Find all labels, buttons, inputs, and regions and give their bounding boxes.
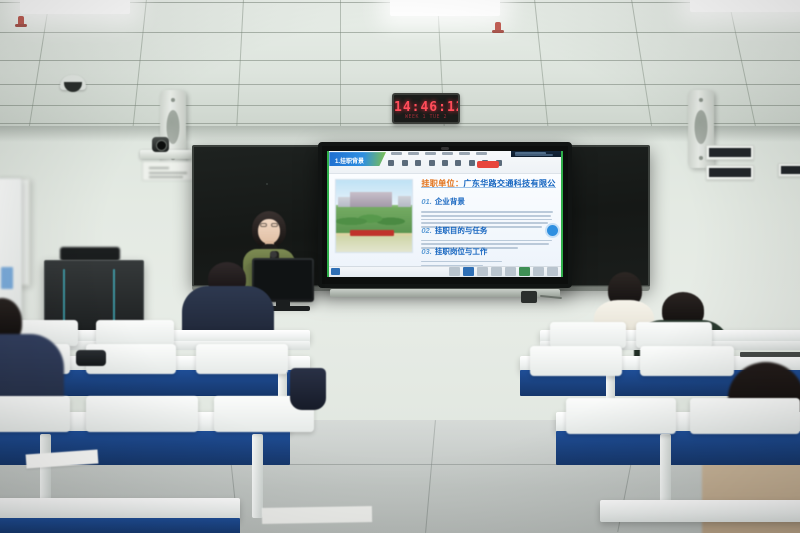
ribbon-icon-paste[interactable]: [388, 160, 394, 166]
taskbar-icon-8[interactable]: [547, 267, 558, 276]
taskbar-icon-6[interactable]: [519, 267, 530, 276]
ppt-ribbon[interactable]: 1.挂职背景: [327, 151, 563, 174]
wall-ceiling-shadow: [0, 126, 800, 142]
screen-webcam-icon: [441, 147, 449, 150]
ceiling-light-3: [690, 0, 800, 12]
section-3-heading: 挂职岗位与工作: [435, 246, 488, 257]
screen-media-box: [521, 291, 537, 303]
clock-sublabel: WEEK 1 TUE 2: [394, 114, 458, 120]
slide-section-tag-label: 1.挂职背景: [335, 156, 364, 165]
ribbon-icon-image[interactable]: [442, 160, 448, 166]
chair-row1-a: [0, 396, 70, 432]
chair-row2-c: [196, 344, 288, 374]
slide-edge-accent-left: [327, 151, 329, 277]
chair-row1-d: [566, 398, 676, 434]
wall-led-clock: 14:46:12 WEEK 1 TUE 2: [392, 93, 460, 124]
presenter-glasses-left: [260, 223, 267, 227]
slide-title: 挂职单位： 广东华路交通科技有限公司: [421, 178, 556, 188]
wall-panel-b: [706, 165, 754, 180]
video-conference-camera: [152, 137, 169, 152]
ppt-presenter-panel[interactable]: [511, 151, 563, 157]
screen-surface[interactable]: 1.挂职背景 挂职单位：: [327, 151, 563, 277]
desk-shadow-gap-right: [740, 352, 800, 357]
chair-row2-d: [530, 346, 622, 376]
section-3-number: 03.: [421, 247, 431, 256]
slide-edge-accent-right: [561, 151, 563, 277]
chair-row3-d: [636, 322, 712, 348]
slide-section-tag: 1.挂职背景: [329, 152, 386, 166]
slide-help-bubble-icon[interactable]: [547, 225, 558, 236]
ribbon-icon-font[interactable]: [402, 160, 408, 166]
led-presentation-screen[interactable]: 1.挂职背景 挂职单位：: [318, 142, 572, 288]
slide-title-company: 广东华路交通科技有限公司: [463, 178, 556, 188]
presenter-glasses-right: [271, 223, 278, 227]
ribbon-icon-shapes[interactable]: [429, 160, 435, 166]
ribbon-icon-newslide[interactable]: [415, 160, 421, 166]
company-campus-photo: [335, 179, 413, 253]
taskbar-icon-4[interactable]: [491, 267, 502, 276]
bag-on-desk: [76, 350, 106, 366]
slide-title-prefix: 挂职单位：: [421, 178, 463, 188]
ceiling-dome-camera: [60, 75, 86, 90]
section-2-heading: 挂职目的与任务: [435, 225, 488, 236]
ribbon-tab-row[interactable]: [391, 152, 487, 155]
ac-badge: [1, 267, 13, 289]
chair-row1-b: [86, 396, 198, 432]
rack-led-right: [113, 269, 115, 327]
taskbar-icon-5[interactable]: [505, 267, 516, 276]
taskbar-app-icons[interactable]: [449, 268, 558, 275]
taskbar-icon-active[interactable]: [463, 267, 474, 276]
rack-top-items: [60, 247, 120, 261]
sprinkler-left: [18, 16, 24, 26]
bag-on-chair: [290, 368, 326, 410]
classroom-photo-scene: 14:46:12 WEEK 1 TUE 2: [0, 0, 800, 533]
wall-panel-c: [778, 163, 800, 177]
section-2-number: 02.: [421, 226, 431, 235]
ceiling-light-1: [20, 0, 130, 14]
wall-info-plaque: [142, 161, 194, 181]
chair-row1-e: [690, 398, 800, 434]
presentation-slide[interactable]: 1.挂职背景 挂职单位：: [327, 151, 563, 277]
papers-on-desk-2: [262, 506, 372, 524]
ribbon-icon-table[interactable]: [455, 160, 461, 166]
taskbar-icon-3[interactable]: [477, 267, 488, 276]
taskbar-icon-1[interactable]: [449, 267, 460, 276]
chair-row3-c: [550, 322, 626, 348]
ceiling-light-2: [390, 0, 500, 16]
slide-body: 挂职单位： 广东华路交通科技有限公司 01.企业背景 02.挂职目的与任务: [327, 174, 563, 266]
clock-time: 14:46:12: [394, 100, 458, 115]
slide-section-3: 03.挂职岗位与工作: [421, 241, 556, 269]
chair-row3-b: [96, 320, 174, 346]
wall-panel-a: [706, 145, 754, 160]
ribbon-icon-chart[interactable]: [469, 160, 475, 166]
start-slideshow-button[interactable]: [477, 161, 499, 168]
section-1-heading: 企业背景: [435, 196, 465, 207]
start-button-icon[interactable]: [331, 268, 340, 275]
section-1-number: 01.: [421, 197, 431, 206]
taskbar-icon-7[interactable]: [533, 267, 544, 276]
sprinkler-right: [495, 22, 501, 32]
os-taskbar[interactable]: [327, 266, 563, 277]
